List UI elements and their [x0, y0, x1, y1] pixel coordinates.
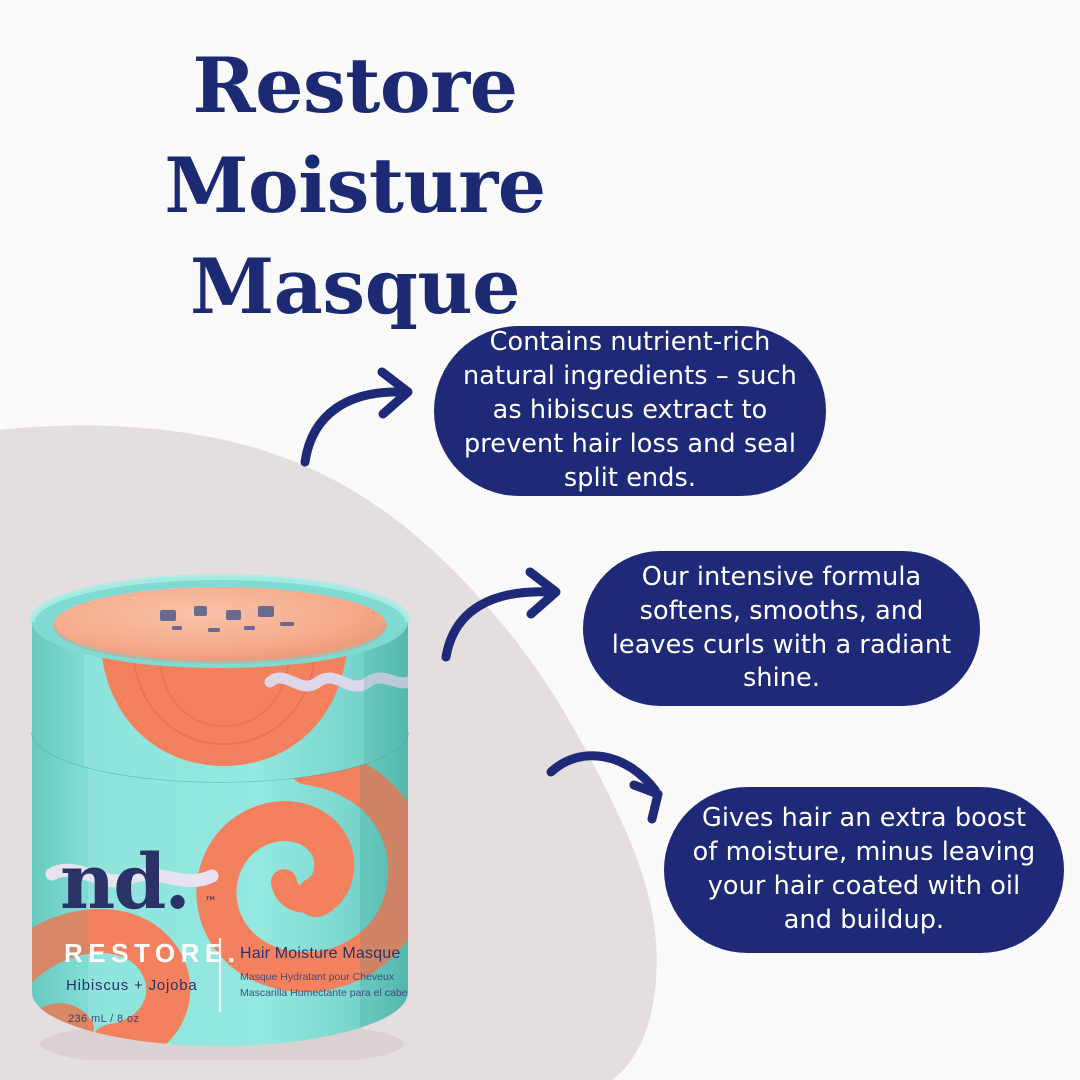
page-title-line-2: Masque — [0, 237, 710, 337]
arrow-3-icon — [551, 756, 658, 819]
callout-bubble-3[interactable]: Gives hair an extra boost of moisture, m… — [664, 787, 1064, 953]
callout-bubble-1-text: Contains nutrient-rich natural ingredien… — [460, 326, 800, 496]
page-title: Restore Moisture Masque — [0, 36, 710, 337]
poster-canvas: Restore Moisture Masque — [0, 0, 1080, 1080]
callout-bubble-1[interactable]: Contains nutrient-rich natural ingredien… — [434, 326, 826, 496]
callout-bubble-2[interactable]: Our intensive formula softens, smooths, … — [583, 551, 980, 706]
page-title-line-1: Restore Moisture — [0, 36, 710, 237]
arrow-1-icon — [305, 372, 408, 462]
arrow-2-icon — [446, 572, 556, 657]
callout-bubble-3-text: Gives hair an extra boost of moisture, m… — [690, 802, 1038, 938]
callout-bubble-2-text: Our intensive formula softens, smooths, … — [609, 561, 954, 697]
